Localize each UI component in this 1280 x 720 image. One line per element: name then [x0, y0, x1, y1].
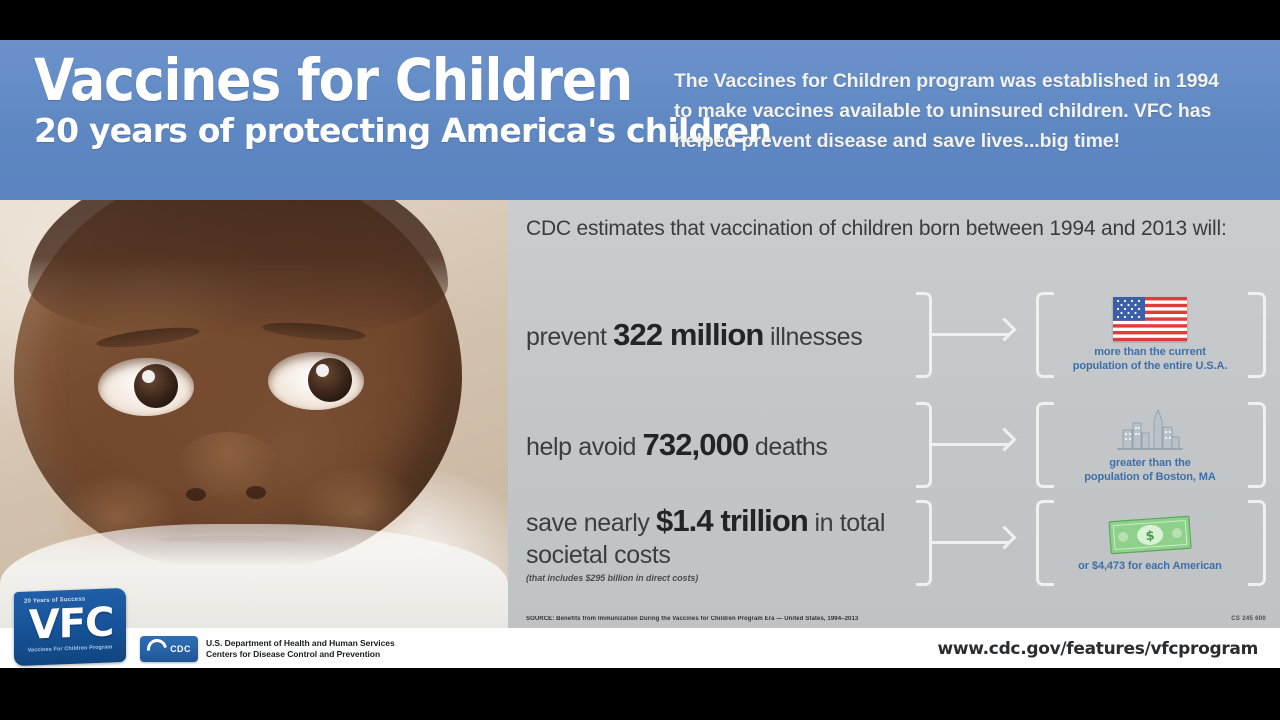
- callout-caption-line2: population of the entire U.S.A.: [1052, 360, 1248, 374]
- vfc-logo: 20 Years of Success VFC Vaccines For Chi…: [14, 590, 126, 664]
- cdc-logo-text: CDC: [170, 644, 191, 654]
- poster-header-band: Vaccines for Children 20 years of protec…: [0, 40, 1280, 200]
- stat-value: 322 million: [613, 317, 763, 352]
- stat-prefix: save nearly: [526, 509, 656, 537]
- agency-line-1: U.S. Department of Health and Human Serv…: [206, 638, 395, 649]
- agency-line-2: Centers for Disease Control and Preventi…: [206, 649, 395, 660]
- arrow-head-icon: [992, 427, 1016, 451]
- source-citation: SOURCE: Benefits from Immunization Durin…: [526, 616, 858, 622]
- program-description: The Vaccines for Children program was es…: [674, 66, 1226, 157]
- baby-nostril-right: [246, 486, 266, 499]
- poster-body: CDC estimates that vaccination of childr…: [0, 200, 1280, 628]
- stat-prefix: help avoid: [526, 433, 643, 461]
- vfc-infographic-poster: Vaccines for Children 20 years of protec…: [0, 40, 1280, 668]
- vfc-logo-mark: VFC: [22, 602, 120, 646]
- baby-eye-glint-right: [316, 364, 329, 377]
- stat-row: prevent 322 million illnesses: [526, 292, 1266, 378]
- stat-footnote: (that includes $295 billion in direct co…: [526, 573, 908, 584]
- agency-block: CDC U.S. Department of Health and Human …: [140, 636, 395, 662]
- callout-caption: or $4,473 for each American: [1052, 560, 1248, 574]
- callout-caption: greater than the population of Boston, M…: [1052, 457, 1248, 485]
- callout-box: greater than the population of Boston, M…: [1052, 406, 1248, 485]
- stat-text: save nearly $1.4 trillion in total socie…: [526, 502, 908, 584]
- baby-eye-glint-left: [142, 370, 155, 383]
- dollar-bill-icon: $: [1104, 513, 1196, 555]
- stat-suffix: deaths: [748, 433, 827, 461]
- stat-value: $1.4 trillion: [656, 503, 808, 538]
- baby-hairline: [28, 200, 448, 338]
- bracket-left-icon: [1036, 402, 1054, 488]
- arrow-head-icon: [992, 317, 1016, 341]
- bracket-right-icon: [1248, 500, 1266, 586]
- baby-photo: [0, 200, 508, 628]
- stat-prefix: prevent: [526, 323, 613, 351]
- bracket-right-icon: [1248, 402, 1266, 488]
- bracket-left-icon: [1036, 292, 1054, 378]
- connector-arrow: [914, 402, 1034, 488]
- agency-text: U.S. Department of Health and Human Serv…: [206, 638, 395, 660]
- letterbox-top: [0, 0, 1280, 40]
- callout-caption-line1: greater than the: [1052, 457, 1248, 471]
- page-title: Vaccines for Children: [34, 50, 660, 111]
- page-subtitle: 20 years of protecting America's childre…: [34, 113, 660, 149]
- stat-row: help avoid 732,000 deaths: [526, 402, 1266, 488]
- website-url[interactable]: www.cdc.gov/features/vfcprogram: [938, 639, 1259, 659]
- callout-caption: more than the current population of the …: [1052, 346, 1248, 374]
- connector-arrow: [914, 500, 1034, 586]
- baby-iris-left: [134, 364, 178, 408]
- arrow-head-icon: [992, 525, 1016, 549]
- header-description-block: The Vaccines for Children program was es…: [660, 40, 1260, 157]
- bracket-right-icon: [1248, 292, 1266, 378]
- stat-suffix: illnesses: [763, 323, 862, 351]
- callout-caption-line1: more than the current: [1052, 346, 1248, 360]
- stat-value: 732,000: [643, 427, 749, 462]
- publication-code: CS 245 600: [1231, 616, 1266, 622]
- poster-footer: 20 Years of Success VFC Vaccines For Chi…: [0, 628, 1280, 668]
- screenshot-stage: Vaccines for Children 20 years of protec…: [0, 0, 1280, 720]
- stat-text: prevent 322 million illnesses: [526, 316, 908, 354]
- baby-iris-right: [308, 358, 352, 402]
- callout-caption-line2: population of Boston, MA: [1052, 471, 1248, 485]
- svg-text:$: $: [1145, 528, 1155, 544]
- callout-caption-line1: or $4,473 for each American: [1052, 560, 1248, 574]
- letterbox-bottom: [0, 668, 1280, 720]
- callout-box: more than the current population of the …: [1052, 297, 1248, 374]
- city-skyline-icon: [1113, 406, 1187, 452]
- connector-arrow: [914, 292, 1034, 378]
- header-title-block: Vaccines for Children 20 years of protec…: [0, 40, 660, 149]
- bracket-left-icon: [1036, 500, 1054, 586]
- stat-text: help avoid 732,000 deaths: [526, 426, 908, 464]
- stat-row: save nearly $1.4 trillion in total socie…: [526, 500, 1266, 586]
- statistics-panel: CDC estimates that vaccination of childr…: [508, 200, 1280, 628]
- cdc-swoosh-icon: [143, 635, 171, 663]
- panel-intro-text: CDC estimates that vaccination of childr…: [526, 214, 1227, 244]
- us-flag-icon: [1113, 297, 1187, 341]
- callout-box: $ or $4,473 for each American: [1052, 513, 1248, 574]
- baby-nostril-left: [186, 488, 206, 501]
- cdc-logo-icon: CDC: [140, 636, 198, 662]
